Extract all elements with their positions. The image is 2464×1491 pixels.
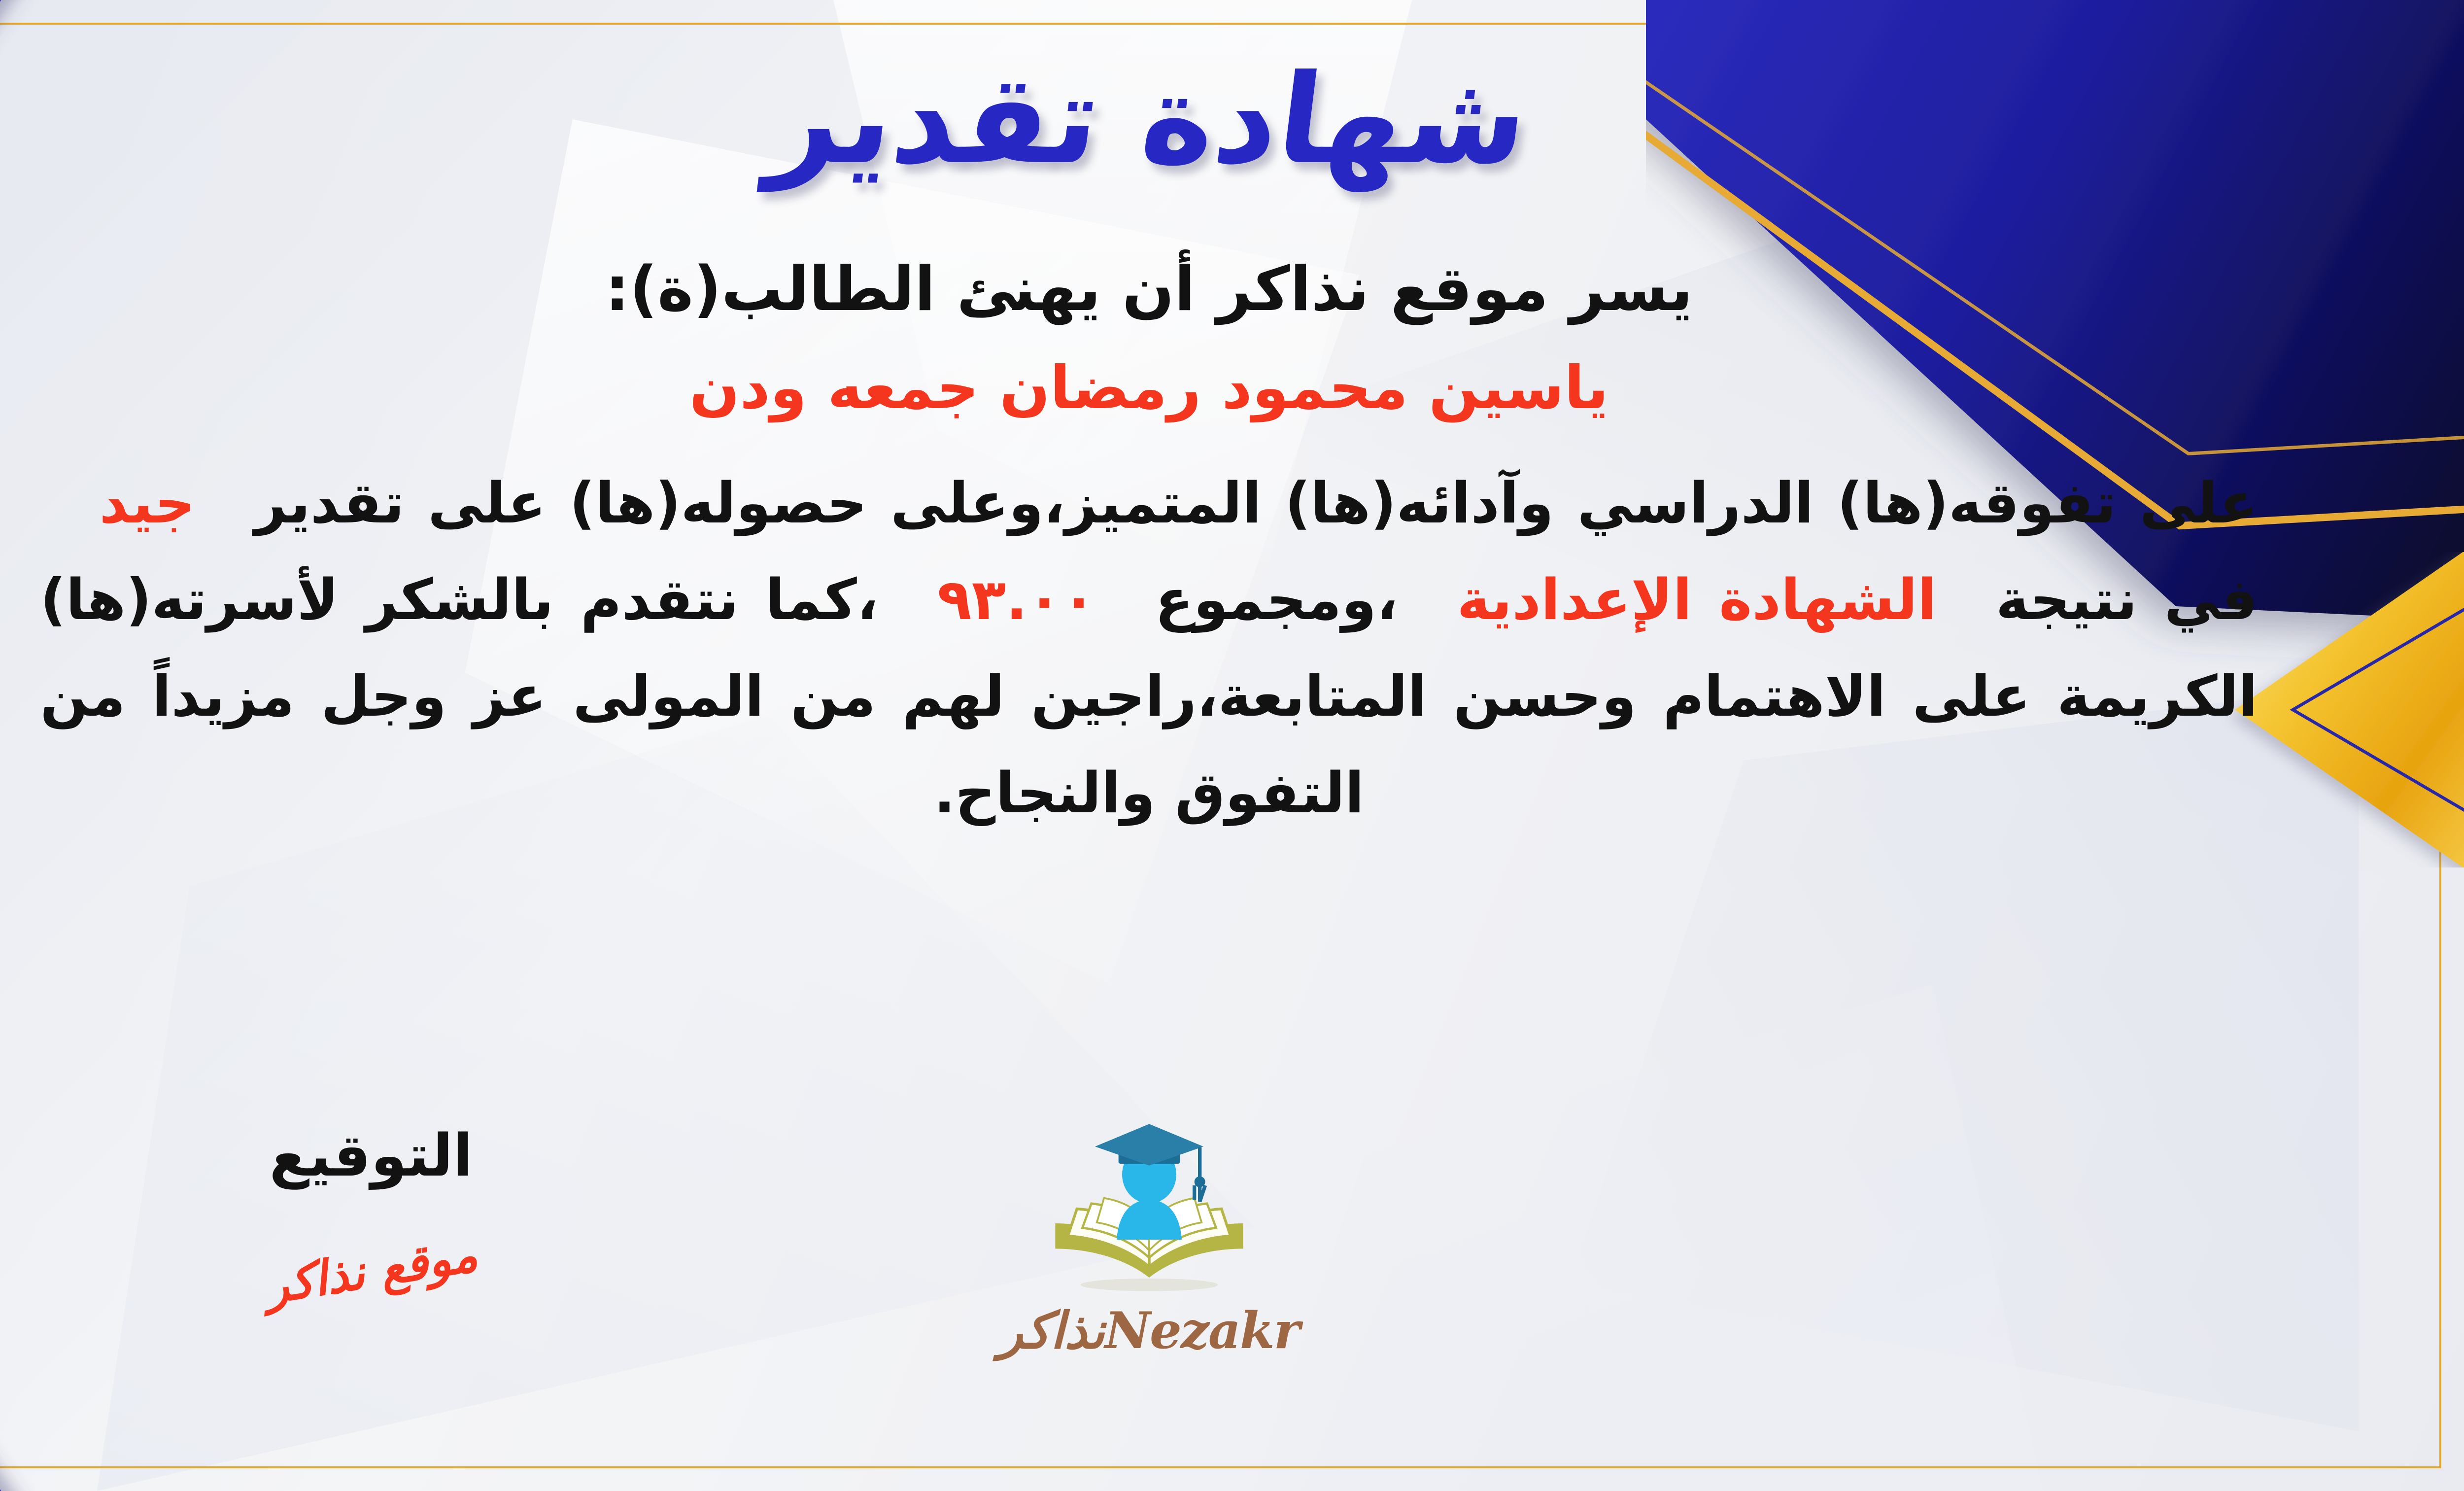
- signature-label: التوقيع: [149, 1126, 593, 1184]
- signature-block: التوقيع موقع نذاكر: [149, 1126, 593, 1298]
- exam-name: الشهادة الإعدادية: [1457, 567, 1936, 632]
- paragraph-part-2: في نتيجة: [1996, 567, 2258, 632]
- total-score: ٩٣.٠٠: [937, 567, 1096, 632]
- certificate-title: شهادة تقدير: [763, 58, 1535, 181]
- brand-name-arabic: نذاكر: [999, 1302, 1105, 1360]
- paragraph-part-3: ،ومجموع: [1155, 567, 1398, 632]
- signature-handwriting: موقع نذاكر: [261, 1226, 481, 1315]
- achievement-paragraph: على تفوقه(ها) الدراسي وآدائه(ها) المتميز…: [6, 455, 2293, 841]
- certificate-content: شهادة تقدير يسر موقع نذاكر أن يهنئ الطال…: [0, 0, 2464, 1491]
- grade-value: جيد: [100, 470, 196, 536]
- brand-logo: Nezakrنذاكر: [962, 1121, 1336, 1356]
- intro-line: يسر موقع نذاكر أن يهنئ الطالب(ة):: [6, 250, 2293, 329]
- graduate-book-icon: [1041, 1121, 1258, 1304]
- brand-logo-text: Nezakrنذاكر: [962, 1306, 1336, 1356]
- student-name: ياسين محمود رمضان جمعه ودن: [6, 351, 2293, 425]
- certificate-footer: التوقيع موقع نذاكر: [0, 1126, 2464, 1432]
- paragraph-part-1: على تفوقه(ها) الدراسي وآدائه(ها) المتميز…: [254, 470, 2258, 536]
- certificate-body: يسر موقع نذاكر أن يهنئ الطالب(ة): ياسين …: [6, 250, 2293, 841]
- brand-name-latin: Nezakr: [1105, 1301, 1300, 1360]
- certificate-page: شهادة تقدير يسر موقع نذاكر أن يهنئ الطال…: [0, 0, 2464, 1491]
